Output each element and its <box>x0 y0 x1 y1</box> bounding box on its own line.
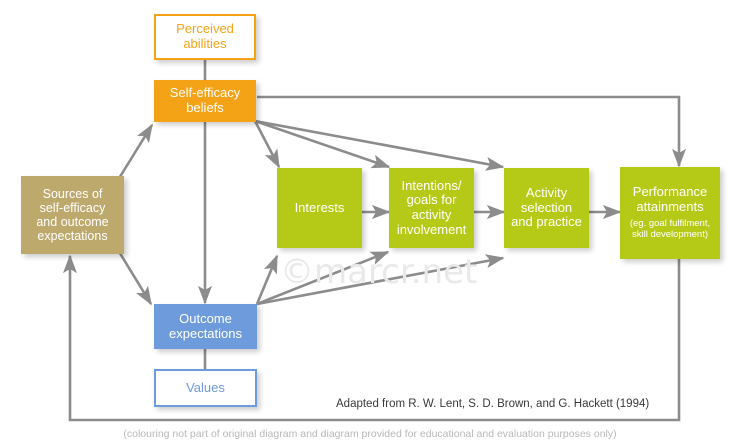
node-label-line2: attainments <box>636 200 703 215</box>
node-label-line1: Interests <box>295 201 345 216</box>
node-label-line2: selection <box>521 201 572 216</box>
node-label-line4: involvement <box>397 223 466 238</box>
edge-outcome-to-interests <box>257 256 277 304</box>
node-label-line2: beliefs <box>186 101 224 116</box>
node-performance-attainments[interactable]: Performance attainments (eg. goal fulfil… <box>620 167 720 259</box>
edge-sources-to-selfefficacy <box>118 125 152 180</box>
node-outcome-expectations[interactable]: Outcome expectations <box>154 304 257 349</box>
node-sublabel-line2: skill development) <box>632 230 708 241</box>
node-label-line2: abilities <box>183 37 226 52</box>
edge-selfefficacy-to-intentions <box>255 121 389 167</box>
node-label-line3: activity <box>412 208 452 223</box>
colouring-footnote: (colouring not part of original diagram … <box>0 428 740 440</box>
node-label-line2: expectations <box>169 327 242 342</box>
node-interests[interactable]: Interests <box>277 168 362 248</box>
node-activity-selection[interactable]: Activity selection and practice <box>504 168 589 248</box>
node-label-line4: expectations <box>37 229 107 243</box>
edge-selfefficacy-to-activity <box>255 121 503 167</box>
source-credit: Adapted from R. W. Lent, S. D. Brown, an… <box>336 398 649 410</box>
node-label-line1: Values <box>186 381 225 396</box>
node-label-line1: Sources of <box>43 187 103 201</box>
edge-selfefficacy-to-interests <box>255 121 279 167</box>
node-label-line2: goals for <box>407 193 457 208</box>
node-label-line2: self-efficacy <box>40 201 106 215</box>
node-label-line1: Activity <box>526 186 567 201</box>
edge-sources-to-outcome <box>118 250 151 304</box>
node-intentions-goals[interactable]: Intentions/ goals for activity involveme… <box>389 168 474 248</box>
node-self-efficacy-beliefs[interactable]: Self-efficacy beliefs <box>154 80 256 122</box>
node-label-line3: and outcome <box>36 215 108 229</box>
node-label-line3: and practice <box>511 215 582 230</box>
node-label-line1: Performance <box>633 185 707 200</box>
node-label-line1: Perceived <box>176 22 234 37</box>
edge-selfefficacy-to-performance <box>257 97 679 166</box>
node-sources[interactable]: Sources of self-efficacy and outcome exp… <box>21 176 124 254</box>
node-label-line1: Outcome <box>179 312 232 327</box>
node-label-line1: Self-efficacy <box>170 86 241 101</box>
node-label-line1: Intentions/ <box>402 179 462 194</box>
diagram-canvas: Perceived abilities Self-efficacy belief… <box>0 0 740 448</box>
node-values[interactable]: Values <box>154 369 257 407</box>
node-perceived-abilities[interactable]: Perceived abilities <box>154 14 256 60</box>
watermark: ©marcr.net <box>280 252 477 292</box>
